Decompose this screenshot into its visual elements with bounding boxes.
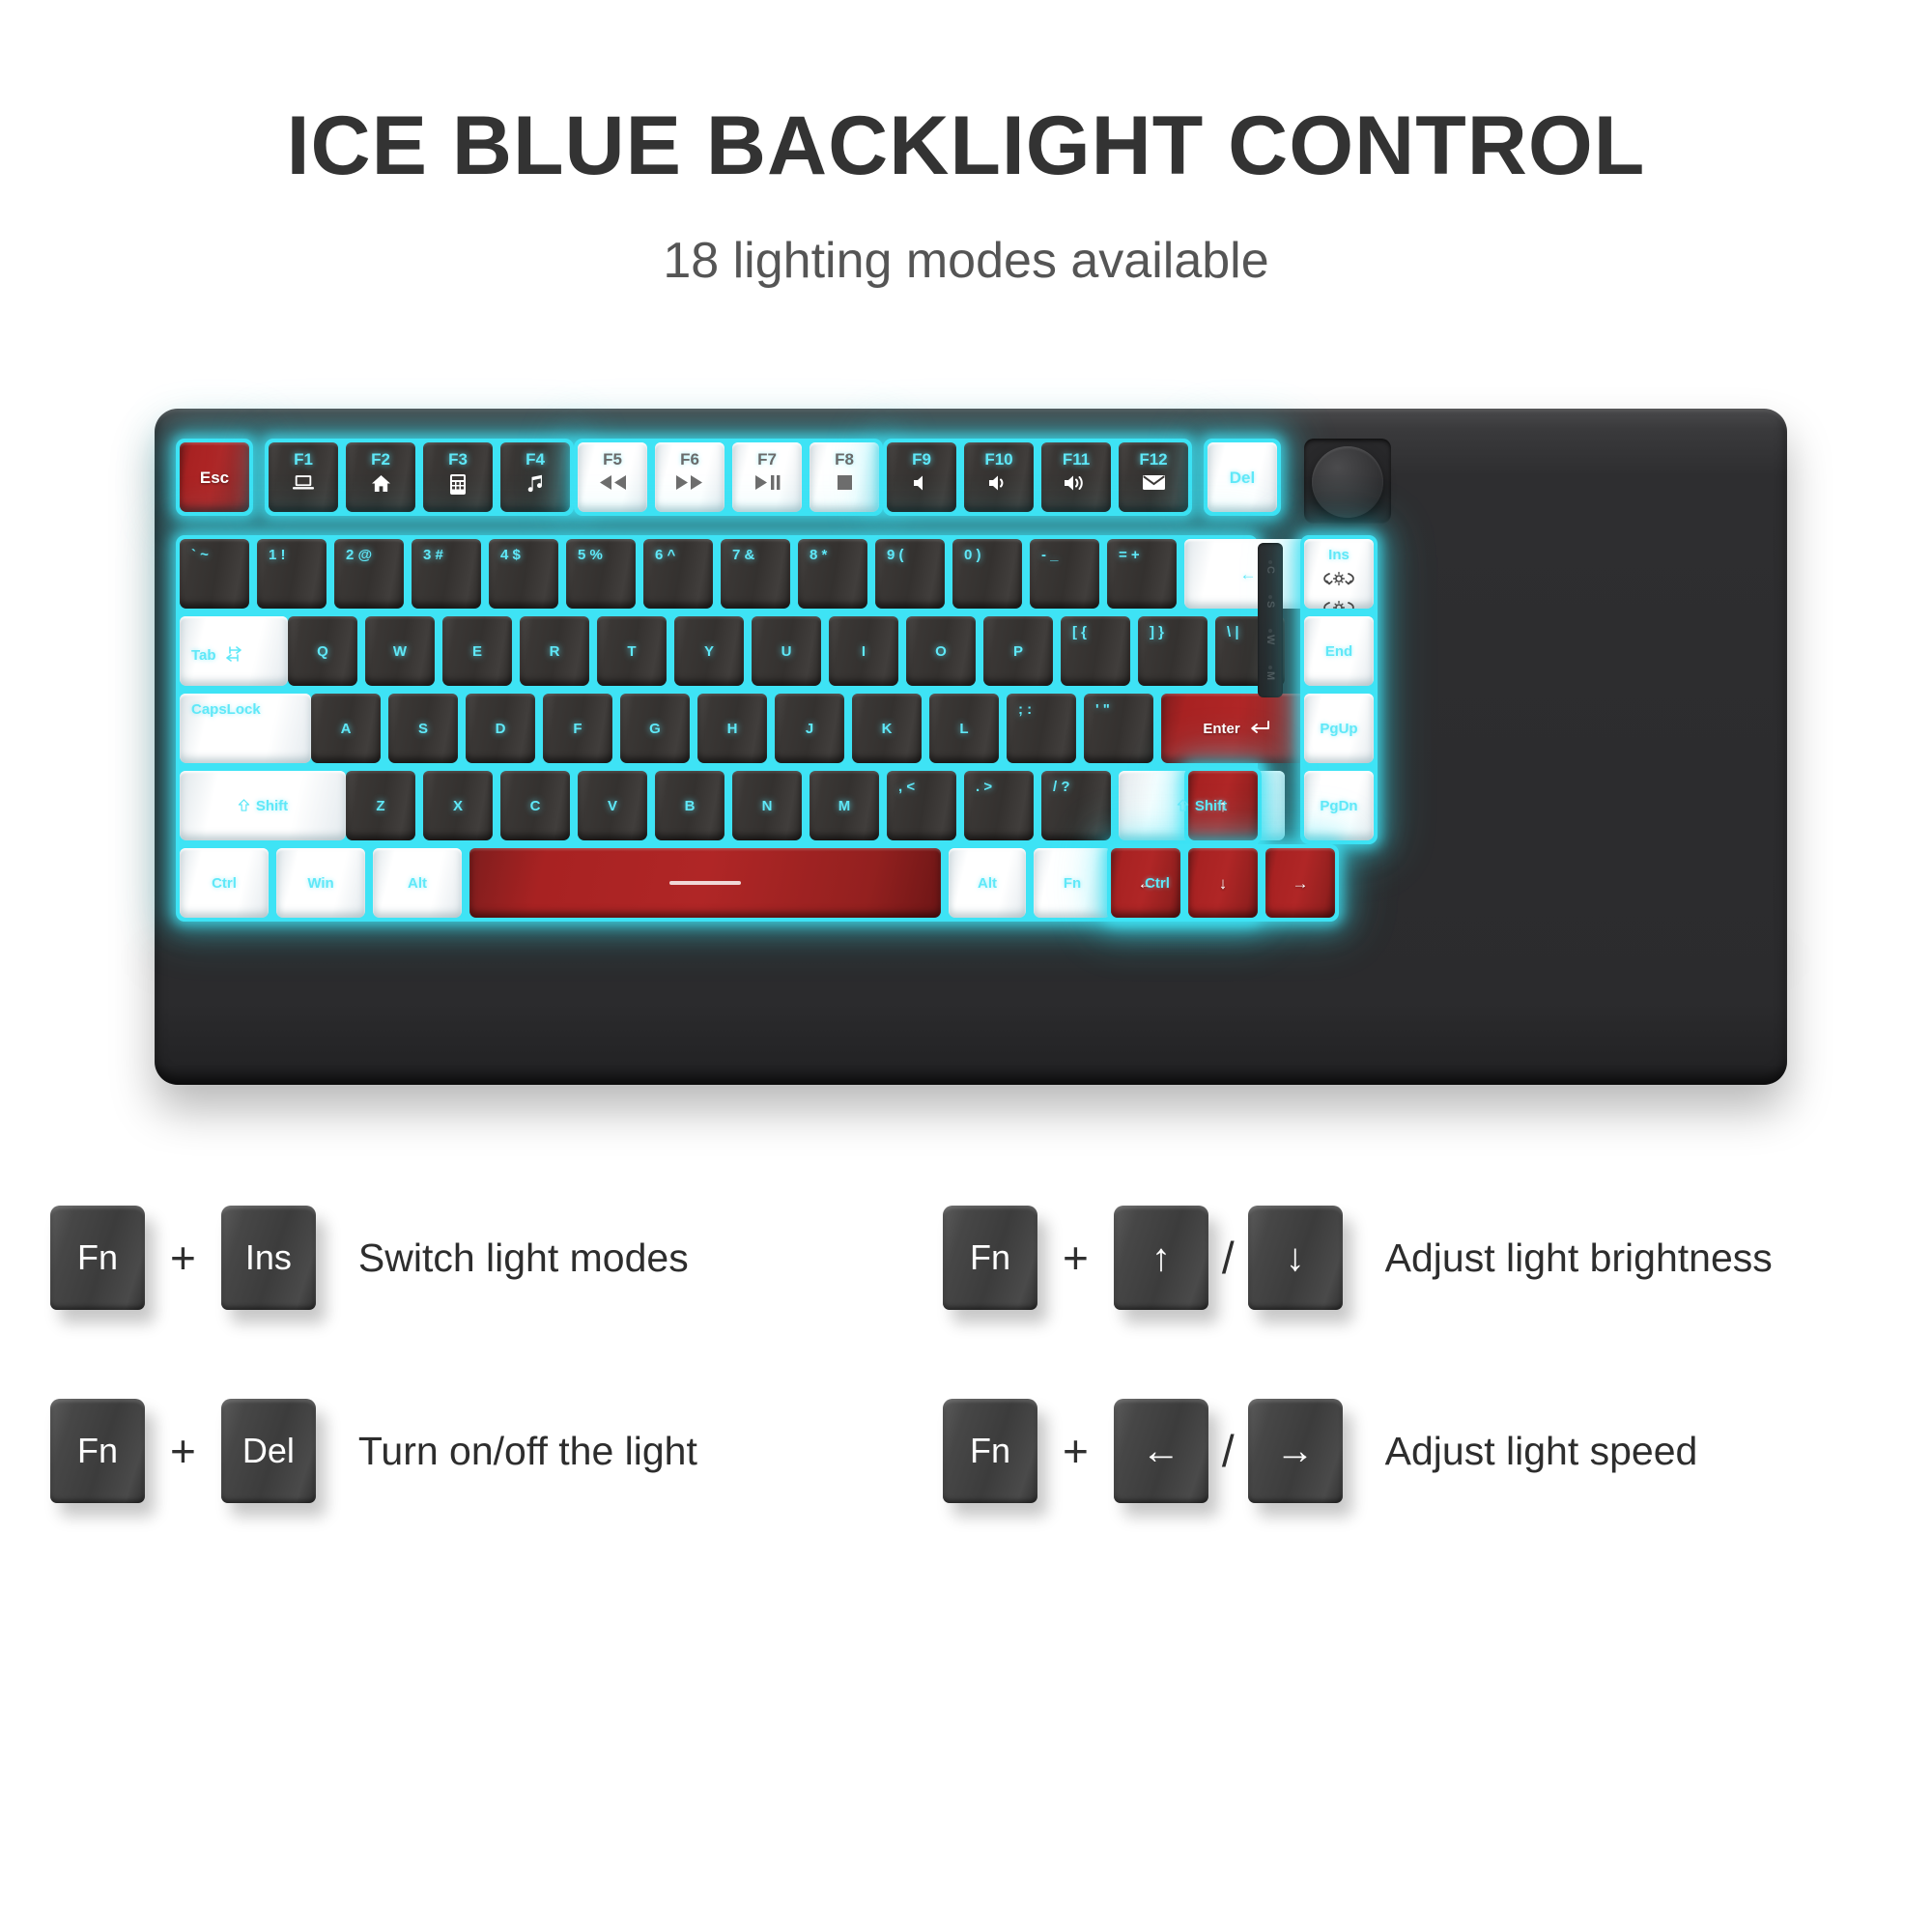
key-f1[interactable]: F1	[269, 442, 338, 512]
key-label: P	[1013, 644, 1023, 659]
key-label: PgDn	[1320, 799, 1357, 813]
key-label: →	[1293, 875, 1309, 892]
key-i[interactable]: I	[829, 616, 898, 686]
fast-forward-icon	[673, 474, 706, 494]
key-label: Alt	[408, 876, 427, 891]
key-win[interactable]: Win	[276, 848, 365, 918]
tab-key[interactable]: Tab	[180, 616, 288, 686]
key-label: Ins	[1328, 548, 1350, 562]
key-label: E	[472, 644, 482, 659]
key-8[interactable]: 8 *	[798, 539, 867, 609]
enter-icon	[1249, 720, 1270, 737]
key-label: Alt	[978, 876, 997, 891]
key-label: O	[935, 644, 947, 659]
legend-key-ins: Ins	[221, 1206, 316, 1310]
legend-key-arrow-up: ↑	[1114, 1206, 1208, 1310]
led-dot	[1268, 595, 1272, 599]
play-pause-icon	[753, 474, 781, 494]
key-label: ↑	[1219, 798, 1228, 814]
key-label: F7	[757, 451, 777, 468]
key-end[interactable]: End	[1304, 616, 1374, 686]
key-label: F12	[1139, 451, 1167, 468]
key-alt[interactable]: Alt	[949, 848, 1026, 918]
key-m[interactable]: M	[810, 771, 879, 840]
key-a[interactable]: A	[311, 694, 381, 763]
key-l[interactable]: L	[929, 694, 999, 763]
key-key[interactable]: . >	[964, 771, 1034, 840]
key-e[interactable]: E	[442, 616, 512, 686]
home-icon	[371, 474, 391, 496]
key-label: I	[862, 644, 866, 659]
key-label: 1 !	[269, 548, 286, 562]
key-f8[interactable]: F8	[810, 442, 879, 512]
key-n[interactable]: N	[732, 771, 802, 840]
key-label: T	[627, 644, 636, 659]
key-label: F2	[371, 451, 390, 468]
key-9[interactable]: 9 (	[875, 539, 945, 609]
key-del[interactable]: Del	[1207, 442, 1277, 512]
legend-key-arrow-right: →	[1248, 1399, 1343, 1503]
legend-item-speed: Fn + ← / → Adjust light speed	[908, 1399, 1816, 1503]
key-s[interactable]: S	[388, 694, 458, 763]
key-label: J	[806, 722, 813, 736]
key-alt[interactable]: Alt	[373, 848, 462, 918]
music-note-icon	[526, 474, 545, 497]
legend-key-fn: Fn	[943, 1206, 1037, 1310]
key-h[interactable]: H	[697, 694, 767, 763]
capslock-key[interactable]: CapsLock	[180, 694, 311, 763]
key-key[interactable]: ; :	[1007, 694, 1076, 763]
key-label: F6	[680, 451, 699, 468]
key-r[interactable]: R	[520, 616, 589, 686]
key-f7[interactable]: F7	[732, 442, 802, 512]
key-label: 4 $	[500, 548, 521, 562]
key-v[interactable]: V	[578, 771, 647, 840]
arrow-down-icon: ↓	[1286, 1238, 1305, 1277]
key-label: F11	[1063, 451, 1090, 468]
key-q[interactable]: Q	[288, 616, 357, 686]
indicator-led-s: S	[1264, 595, 1276, 608]
legend-key-arrow-down: ↓	[1248, 1206, 1343, 1310]
rotary-volume-knob[interactable]	[1312, 446, 1383, 518]
key-label: End	[1325, 644, 1352, 659]
calculator-icon	[450, 474, 466, 497]
key-label: F3	[448, 451, 468, 468]
shift-icon	[1177, 797, 1189, 814]
key-1[interactable]: 1 !	[257, 539, 327, 609]
key-label: K	[882, 722, 893, 736]
key-label: F10	[984, 451, 1012, 468]
legend-plus: +	[170, 1232, 196, 1284]
page-title: ICE BLUE BACKLIGHT CONTROL	[0, 104, 1932, 187]
key-label: ↓	[1219, 875, 1228, 892]
legend-key-arrow-left: ←	[1114, 1399, 1208, 1503]
key-label: L	[959, 722, 968, 736]
key-label: F9	[912, 451, 931, 468]
key-label: F	[573, 722, 582, 736]
key-pgup[interactable]: PgUp	[1304, 694, 1374, 763]
rewind-icon	[596, 474, 629, 494]
key-3[interactable]: 3 #	[412, 539, 481, 609]
enter-key[interactable]: Enter	[1161, 694, 1312, 763]
arrow-right-key[interactable]: →	[1265, 848, 1335, 918]
key-label: F8	[835, 451, 854, 468]
laptop-icon	[293, 474, 314, 494]
key-label: Ctrl	[212, 876, 237, 891]
key-label: Del	[1230, 469, 1255, 486]
key-label: H	[727, 722, 738, 736]
key-0[interactable]: 0 )	[952, 539, 1022, 609]
key-label: Shift	[256, 799, 288, 813]
arrow-down-key[interactable]: ↓	[1188, 848, 1258, 918]
key-j[interactable]: J	[775, 694, 844, 763]
key-label: CapsLock	[191, 702, 261, 717]
key-label: G	[649, 722, 661, 736]
backspace-key[interactable]: ←	[1184, 539, 1312, 609]
key-label: PgUp	[1320, 722, 1357, 736]
key-f3[interactable]: F3	[423, 442, 493, 512]
key-pgdn[interactable]: PgDn	[1304, 771, 1374, 840]
key-t[interactable]: T	[597, 616, 667, 686]
key-key[interactable]: ' "	[1084, 694, 1153, 763]
legend-key-fn: Fn	[943, 1399, 1037, 1503]
header: ICE BLUE BACKLIGHT CONTROL 18 lighting m…	[0, 0, 1932, 290]
key-label: C	[530, 799, 541, 813]
key-f12[interactable]: F12	[1119, 442, 1188, 512]
key-label: Q	[317, 644, 328, 659]
legend-plus: +	[1063, 1425, 1089, 1477]
key-5[interactable]: 5 %	[566, 539, 636, 609]
key-label: R	[550, 644, 560, 659]
indicator-led-strip: CSWM	[1258, 543, 1283, 697]
key-label: . >	[976, 780, 992, 794]
key-w[interactable]: W	[365, 616, 435, 686]
led-dot	[1268, 629, 1272, 633]
key-c[interactable]: C	[500, 771, 570, 840]
key-label: W	[393, 644, 407, 659]
legend-description: Adjust light brightness	[1385, 1236, 1773, 1281]
shortcut-legend: Fn + Ins Switch light modes Fn + ↑ / ↓ A…	[0, 1161, 1932, 1548]
key-y[interactable]: Y	[674, 616, 744, 686]
key-label: 6 ^	[655, 548, 675, 562]
key-label: Enter	[1203, 722, 1239, 736]
legend-description: Adjust light speed	[1385, 1429, 1698, 1474]
key-label: 9 (	[887, 548, 904, 562]
key-label: 7 &	[732, 548, 754, 562]
key-u[interactable]: U	[752, 616, 821, 686]
key-label: F1	[294, 451, 313, 468]
key-label: 0 )	[964, 548, 981, 562]
legend-slash: /	[1222, 1425, 1235, 1477]
key-label: / ?	[1053, 780, 1070, 794]
arrow-left-key[interactable]: ←	[1111, 848, 1180, 918]
indicator-led-m: M	[1264, 666, 1276, 680]
legend-key-fn: Fn	[50, 1399, 145, 1503]
key-key[interactable]: - _	[1030, 539, 1099, 609]
key-label: ` ~	[191, 548, 209, 562]
key-p[interactable]: P	[983, 616, 1053, 686]
key-label: B	[685, 799, 696, 813]
key-label: 8 *	[810, 548, 827, 562]
legend-item-toggle-light: Fn + Del Turn on/off the light	[0, 1399, 908, 1503]
key-label: X	[453, 799, 463, 813]
key-label: A	[341, 722, 352, 736]
legend-key-fn: Fn	[50, 1206, 145, 1310]
key-b[interactable]: B	[655, 771, 724, 840]
key-label: D	[496, 722, 506, 736]
key-label: \ |	[1227, 625, 1239, 639]
key-key[interactable]: = +	[1107, 539, 1177, 609]
arrow-left-icon: ←	[1142, 1432, 1180, 1470]
key-ctrl[interactable]: Ctrl	[180, 848, 269, 918]
key-key[interactable]: / ?	[1041, 771, 1111, 840]
key-label: Y	[704, 644, 714, 659]
key-label: Win	[307, 876, 333, 891]
key-key[interactable]: , <	[887, 771, 956, 840]
backlight-cycle-icon	[1322, 598, 1355, 609]
key-key[interactable]: ] }	[1138, 616, 1207, 686]
key-f11[interactable]: F11	[1041, 442, 1111, 512]
key-key[interactable]: [ {	[1061, 616, 1130, 686]
led-label: C	[1264, 566, 1276, 574]
key-label: F4	[526, 451, 545, 468]
key-4[interactable]: 4 $	[489, 539, 558, 609]
key-label: Z	[376, 799, 384, 813]
key-k[interactable]: K	[852, 694, 922, 763]
key-label: = +	[1119, 548, 1140, 562]
key-f2[interactable]: F2	[346, 442, 415, 512]
key-label: M	[838, 799, 851, 813]
key-label: ] }	[1150, 625, 1164, 639]
page-subtitle: 18 lighting modes available	[0, 232, 1932, 290]
key-f[interactable]: F	[543, 694, 612, 763]
key-esc[interactable]: Esc	[180, 442, 249, 512]
key-d[interactable]: D	[466, 694, 535, 763]
key-label: [ {	[1072, 625, 1087, 639]
key-o[interactable]: O	[906, 616, 976, 686]
legend-item-switch-modes: Fn + Ins Switch light modes	[0, 1206, 908, 1310]
indicator-led-w: W	[1264, 629, 1276, 644]
key-6[interactable]: 6 ^	[643, 539, 713, 609]
legend-description: Switch light modes	[358, 1236, 689, 1281]
legend-row: Fn + Ins Switch light modes Fn + ↑ / ↓ A…	[0, 1161, 1932, 1354]
key-label: - _	[1041, 548, 1059, 562]
key-label: 2 @	[346, 548, 372, 562]
key-label: ' "	[1095, 702, 1110, 717]
legend-slash: /	[1222, 1232, 1235, 1284]
legend-plus: +	[1063, 1232, 1089, 1284]
shift-icon	[238, 797, 250, 814]
key-label: 3 #	[423, 548, 443, 562]
key-label: ←	[1240, 566, 1257, 582]
key-key[interactable]: ` ~	[180, 539, 249, 609]
legend-description: Turn on/off the light	[358, 1429, 697, 1474]
key-2[interactable]: 2 @	[334, 539, 404, 609]
key-label: Fn	[1064, 876, 1081, 891]
legend-plus: +	[170, 1425, 196, 1477]
key-ins[interactable]: Ins	[1304, 539, 1374, 609]
key-label: 5 %	[578, 548, 603, 562]
legend-key-del: Del	[221, 1399, 316, 1503]
key-label: F5	[603, 451, 622, 468]
led-label: W	[1264, 635, 1276, 644]
led-label: S	[1264, 601, 1276, 608]
left-shift-key[interactable]: Shift	[180, 771, 346, 840]
key-fn[interactable]: Fn	[1034, 848, 1111, 918]
led-dot	[1268, 560, 1272, 564]
spacebar-groove	[669, 881, 741, 885]
key-g[interactable]: G	[620, 694, 690, 763]
key-f5[interactable]: F5	[578, 442, 647, 512]
key-label: ←	[1138, 875, 1154, 892]
key-label: Esc	[200, 469, 229, 486]
legend-row: Fn + Del Turn on/off the light Fn + ← / …	[0, 1354, 1932, 1548]
keyboard-plate: EscF1F2F3F4F5F6F7F8F9F10F11F12Del` ~1 !2…	[180, 442, 1764, 1041]
volume-up-icon	[1063, 474, 1090, 495]
backlight-cycle-icon	[1322, 569, 1355, 591]
key-x[interactable]: X	[423, 771, 493, 840]
volume-down-icon	[987, 474, 1010, 495]
arrow-up-icon: ↑	[1151, 1238, 1171, 1277]
volume-mute-icon	[912, 474, 931, 495]
key-label: V	[608, 799, 617, 813]
key-label: , <	[898, 780, 915, 794]
key-label: S	[418, 722, 428, 736]
key-label: U	[781, 644, 792, 659]
keyboard-image: EscF1F2F3F4F5F6F7F8F9F10F11F12Del` ~1 !2…	[0, 394, 1932, 1090]
stop-icon	[837, 474, 853, 494]
key-f10[interactable]: F10	[964, 442, 1034, 512]
legend-item-brightness: Fn + ↑ / ↓ Adjust light brightness	[908, 1206, 1816, 1310]
key-z[interactable]: Z	[346, 771, 415, 840]
indicator-led-c: C	[1264, 560, 1276, 574]
key-label: N	[762, 799, 773, 813]
spacebar[interactable]	[469, 848, 941, 918]
mail-icon	[1142, 474, 1166, 494]
tab-icon	[223, 646, 244, 665]
key-label: ; :	[1018, 702, 1032, 717]
led-dot	[1268, 666, 1272, 669]
led-label: M	[1264, 671, 1276, 680]
arrow-right-icon: →	[1276, 1432, 1315, 1470]
key-f6[interactable]: F6	[655, 442, 724, 512]
key-f9[interactable]: F9	[887, 442, 956, 512]
key-7[interactable]: 7 &	[721, 539, 790, 609]
key-f4[interactable]: F4	[500, 442, 570, 512]
key-label: Tab	[191, 648, 216, 663]
